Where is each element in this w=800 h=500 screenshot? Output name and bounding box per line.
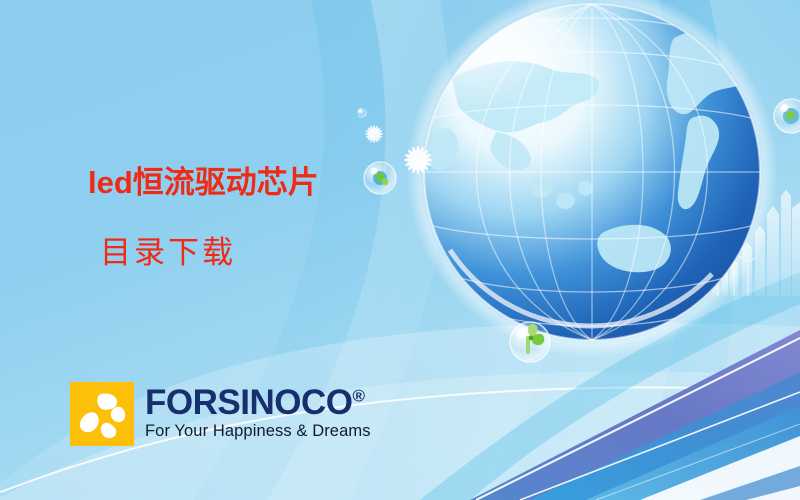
registered-trademark-icon: ® <box>352 386 364 405</box>
bubble-right-edge <box>774 99 800 133</box>
headline-line-2: 目录下载 <box>100 232 418 273</box>
company-logo[interactable]: FORSINOCO® For Your Happiness & Dreams <box>70 382 371 446</box>
logo-wordmark: FORSINOCO® <box>145 385 371 420</box>
continents <box>428 4 759 272</box>
forsinoco-logo-mark <box>70 382 134 446</box>
bubble-windmill-center <box>510 322 550 362</box>
headline-line-1: led恒流驱动芯片 <box>88 162 418 203</box>
pinwheel-petals <box>80 393 125 438</box>
promo-banner: led恒流驱动芯片 目录下载 FORSINOCO® For Your Happi… <box>0 0 800 500</box>
logo-tagline: For Your Happiness & Dreams <box>145 422 371 440</box>
diagonal-ribbons <box>470 330 800 500</box>
sparkle-small <box>365 125 383 143</box>
headline-block: led恒流驱动芯片 目录下载 <box>88 162 418 273</box>
logo-wordmark-text: FORSINOCO <box>145 383 352 422</box>
latitude-lines <box>424 18 760 326</box>
earth-globe-graphic <box>392 0 792 382</box>
logo-text-block: FORSINOCO® For Your Happiness & Dreams <box>145 382 371 440</box>
longitude-lines <box>477 4 708 340</box>
bubble-small-top <box>357 108 367 118</box>
city-skyline <box>690 190 800 296</box>
